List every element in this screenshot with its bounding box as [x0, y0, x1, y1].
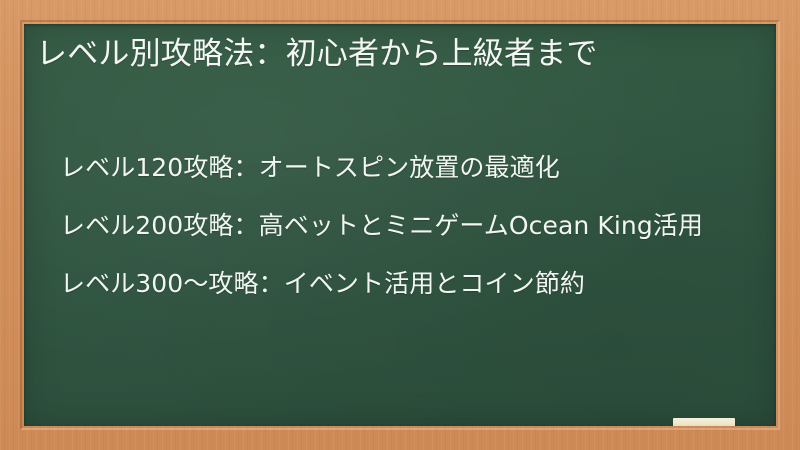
list-item: レベル200攻略：高ベットとミニゲームOcean King活用	[60, 208, 738, 244]
list-item: レベル120攻略：オートスピン放置の最適化	[60, 150, 738, 186]
page-title: レベル別攻略法：初心者から上級者まで	[36, 32, 754, 76]
list-item: レベル300〜攻略：イベント活用とコイン節約	[60, 266, 738, 302]
chalkboard-surface: レベル別攻略法：初心者から上級者まで レベル120攻略：オートスピン放置の最適化…	[24, 24, 776, 426]
blackboard-frame: レベル別攻略法：初心者から上級者まで レベル120攻略：オートスピン放置の最適化…	[0, 0, 800, 450]
chalkboard-content: レベル別攻略法：初心者から上級者まで レベル120攻略：オートスピン放置の最適化…	[24, 24, 776, 426]
topic-list: レベル120攻略：オートスピン放置の最適化 レベル200攻略：高ベットとミニゲー…	[60, 150, 738, 302]
chalk-stick-icon	[673, 418, 735, 426]
